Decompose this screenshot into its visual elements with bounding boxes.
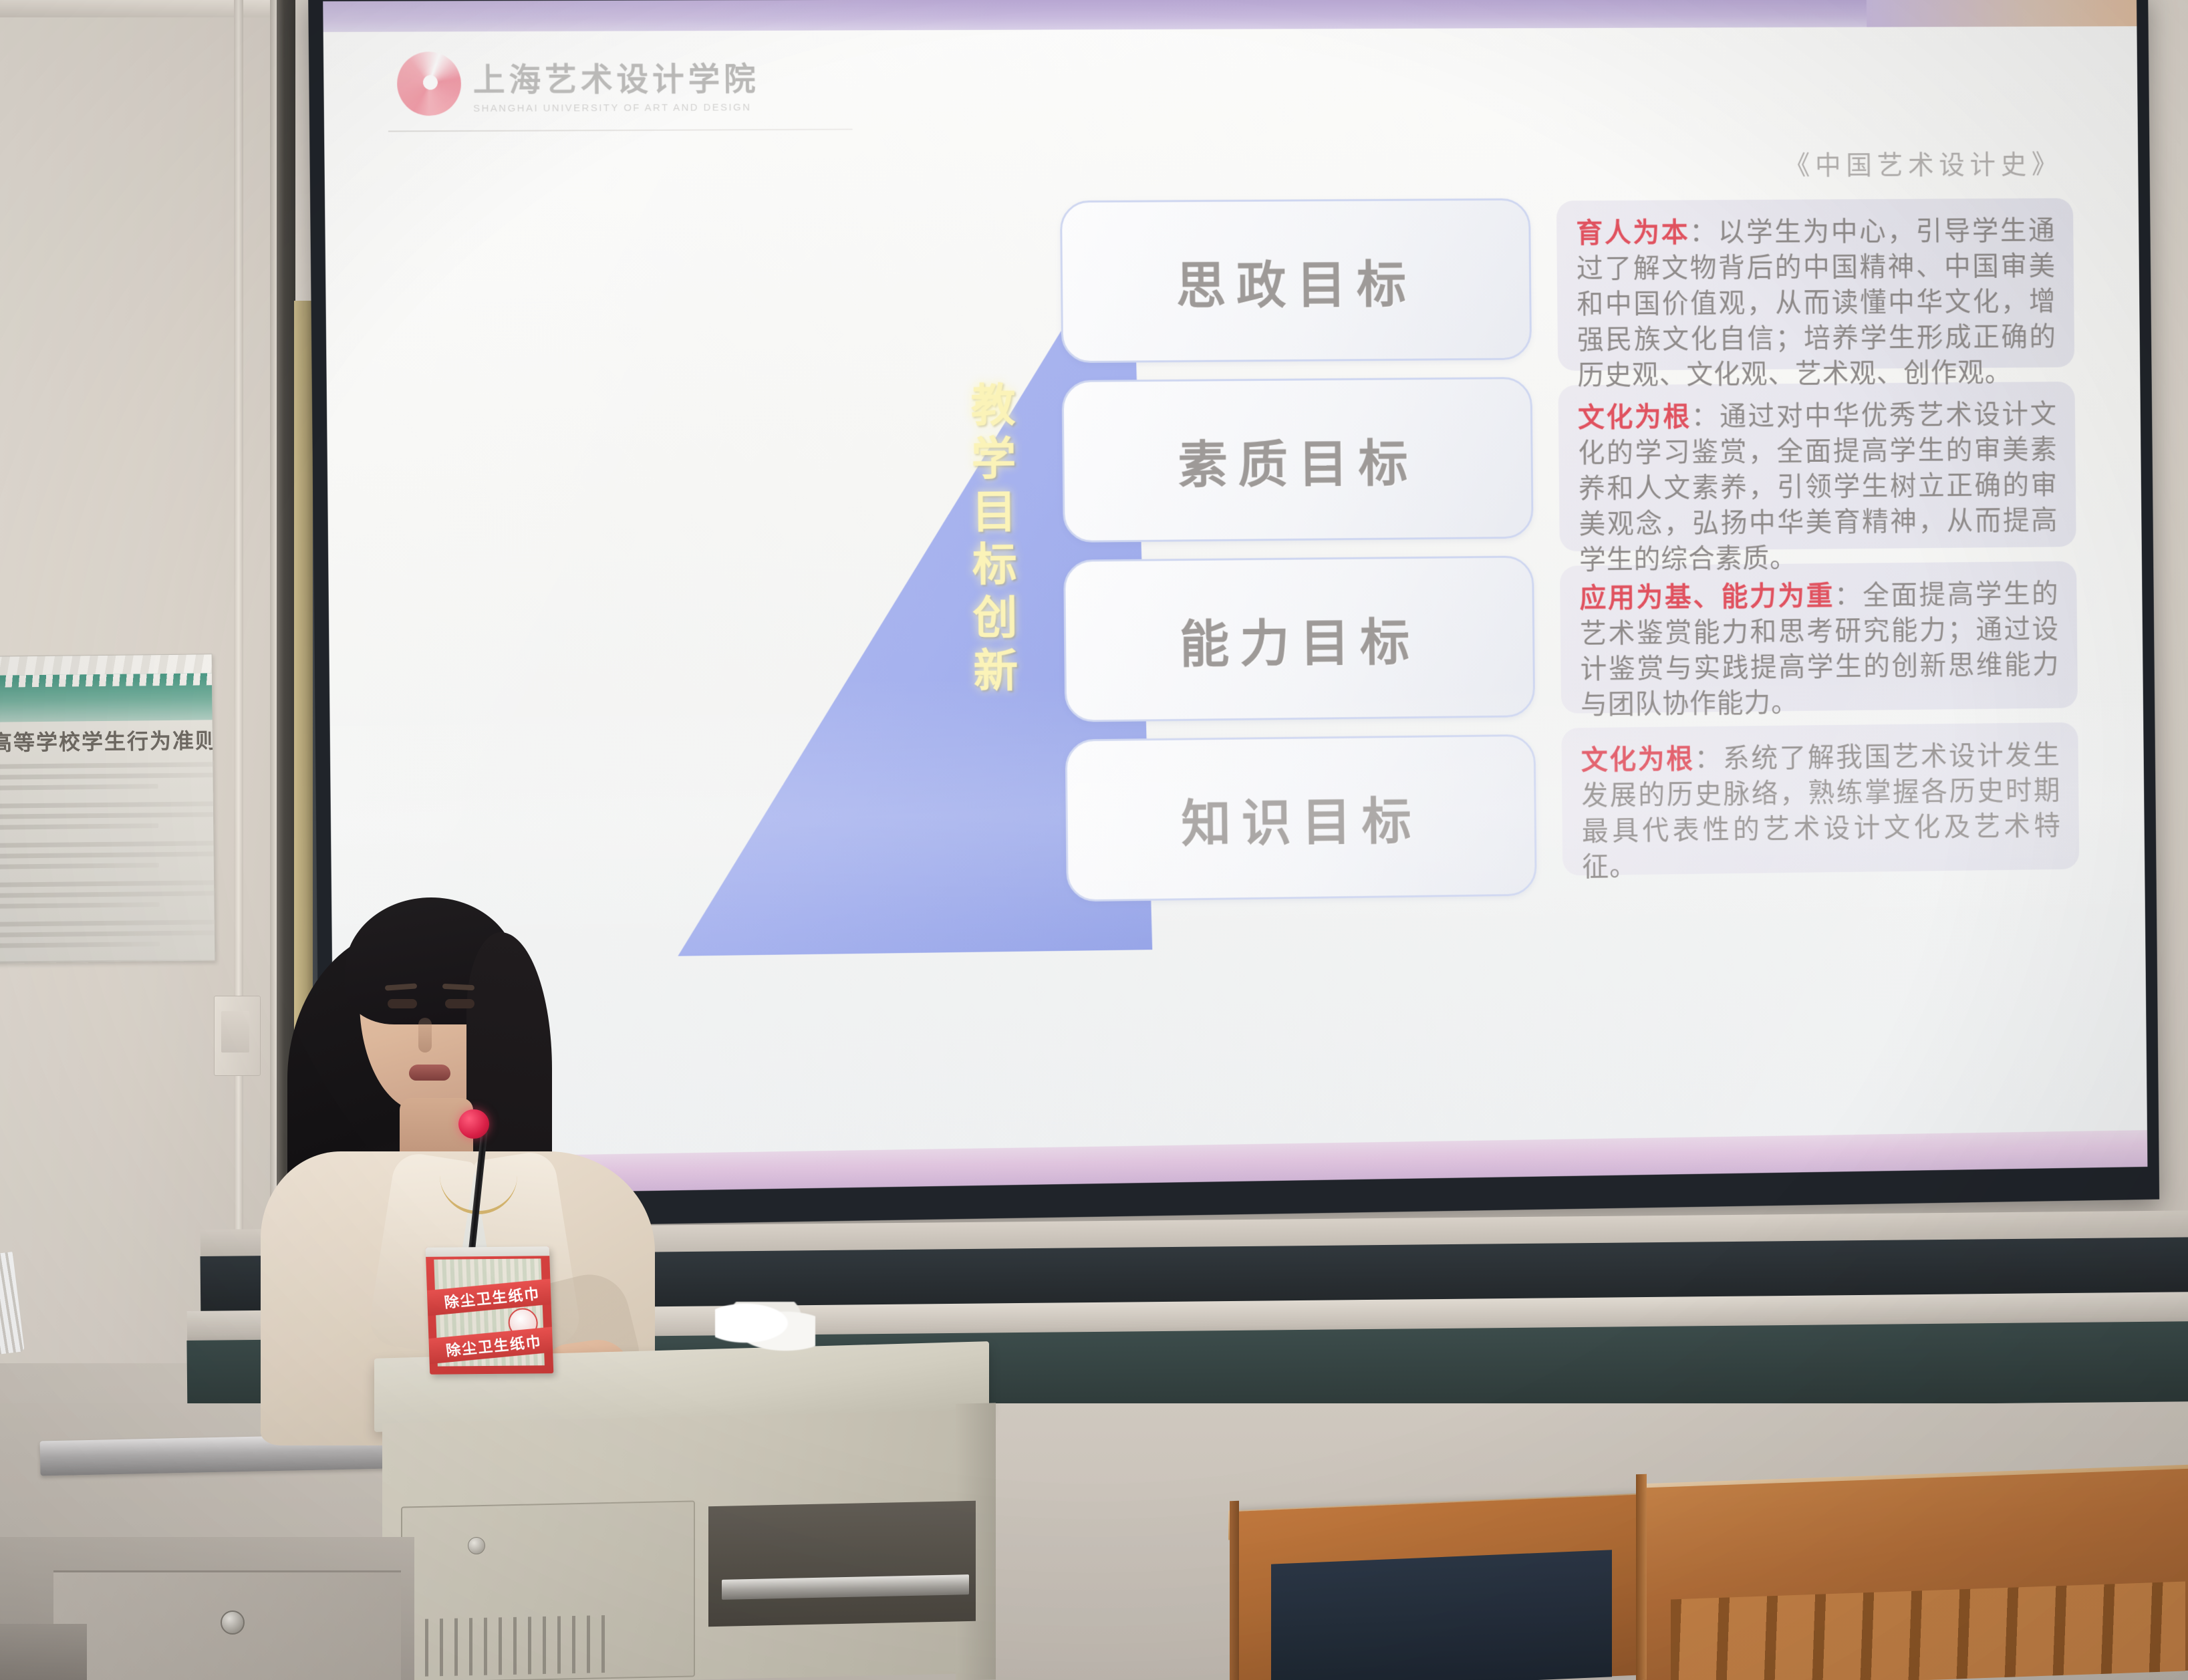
description-list: 育人为本：以学生为中心，引导学生通过了解文物背后的中国精神、中国审美和中国价值观… [1556,198,2080,890]
description-block: 应用为基、能力为重：全面提高学生的艺术鉴赏能力和思考研究能力；通过设计鉴赏与实践… [1560,561,2078,714]
description-keyword: 应用为基、能力为重 [1579,581,1834,613]
university-logo: 上海艺术设计学院 SHANGHAI UNIVERSITY OF ART AND … [397,51,760,116]
goal-card-label: 能力目标 [1179,601,1420,676]
cabinet-handle-icon[interactable] [221,1611,245,1635]
poster-body-text [0,756,215,963]
classroom-photo: 高等学校学生行为准则 上海艺术设计学院 SHANGH [0,0,2188,1680]
eye-right [445,999,474,1008]
podium-lock-icon[interactable] [468,1537,485,1554]
microphone-head-icon[interactable] [458,1109,489,1139]
crumpled-tissue [715,1302,815,1355]
tissue-box[interactable]: 除尘卫生纸巾 除尘卫生纸巾 [426,1246,554,1374]
logo-underline [388,129,853,132]
poster-green-band [0,673,214,722]
description-separator: ： [1689,217,1718,248]
wall-poster: 高等学校学生行为准则 [0,654,215,963]
course-title: 《中国艺术设计史》 [1784,143,2062,182]
description-block: 育人为本：以学生为中心，引导学生通过了解文物背后的中国精神、中国审美和中国价值观… [1556,198,2074,370]
chair-slats [1671,1582,2185,1680]
goal-card[interactable]: 能力目标 [1063,555,1535,722]
podium-vent-slots [410,1615,611,1677]
goal-card-label: 知识目标 [1181,780,1422,855]
goal-card-label: 思政目标 [1176,243,1417,317]
goal-card[interactable]: 素质目标 [1062,377,1534,543]
podium-keyboard-drawer[interactable] [708,1501,976,1627]
slide-top-band-accent [1867,0,2137,27]
description-separator: ： [1694,743,1723,774]
floor-slab [0,1624,87,1680]
mouth [409,1065,450,1081]
goal-card[interactable]: 思政目标 [1060,198,1532,364]
description-keyword: 文化为根 [1581,744,1695,775]
desk-side-edge [1230,1501,1239,1680]
poster-title: 高等学校学生行为准则 [0,724,215,757]
goal-card-label: 素质目标 [1178,422,1419,497]
wall-switch-rocker[interactable] [221,1011,249,1053]
eye-left [388,999,417,1008]
logo-text-block: 上海艺术设计学院 SHANGHAI UNIVERSITY OF ART AND … [472,52,760,114]
nose [418,1018,432,1053]
description-separator: ： [1691,401,1720,432]
description-block: 文化为根：系统了解我国艺术设计发生发展的历史脉络，熟练掌握各历史时期最具代表性的… [1561,722,2079,875]
desk-cavity [1271,1550,1612,1680]
pyramid-label: 教学目标创新 [956,381,1024,700]
wall-seam [234,0,243,1397]
goal-card[interactable]: 知识目标 [1065,734,1537,902]
description-block: 文化为根：通过对中华优秀艺术设计文化的学习鉴赏，全面提高学生的审美素养和人文素养… [1558,382,2076,551]
swirl-logo-icon [397,51,462,116]
goal-card-list: 思政目标 素质目标 能力目标 知识目标 [1060,198,1537,920]
description-keyword: 文化为根 [1578,402,1691,433]
description-separator: ： [1834,580,1863,611]
description-keyword: 育人为本 [1576,217,1689,248]
tissue-box-top [426,1246,554,1257]
wall-switch-plate[interactable] [214,996,261,1076]
logo-name-en: SHANGHAI UNIVERSITY OF ART AND DESIGN [473,102,760,114]
chair-divider [1636,1474,1647,1680]
logo-name-cn: 上海艺术设计学院 [472,52,759,100]
